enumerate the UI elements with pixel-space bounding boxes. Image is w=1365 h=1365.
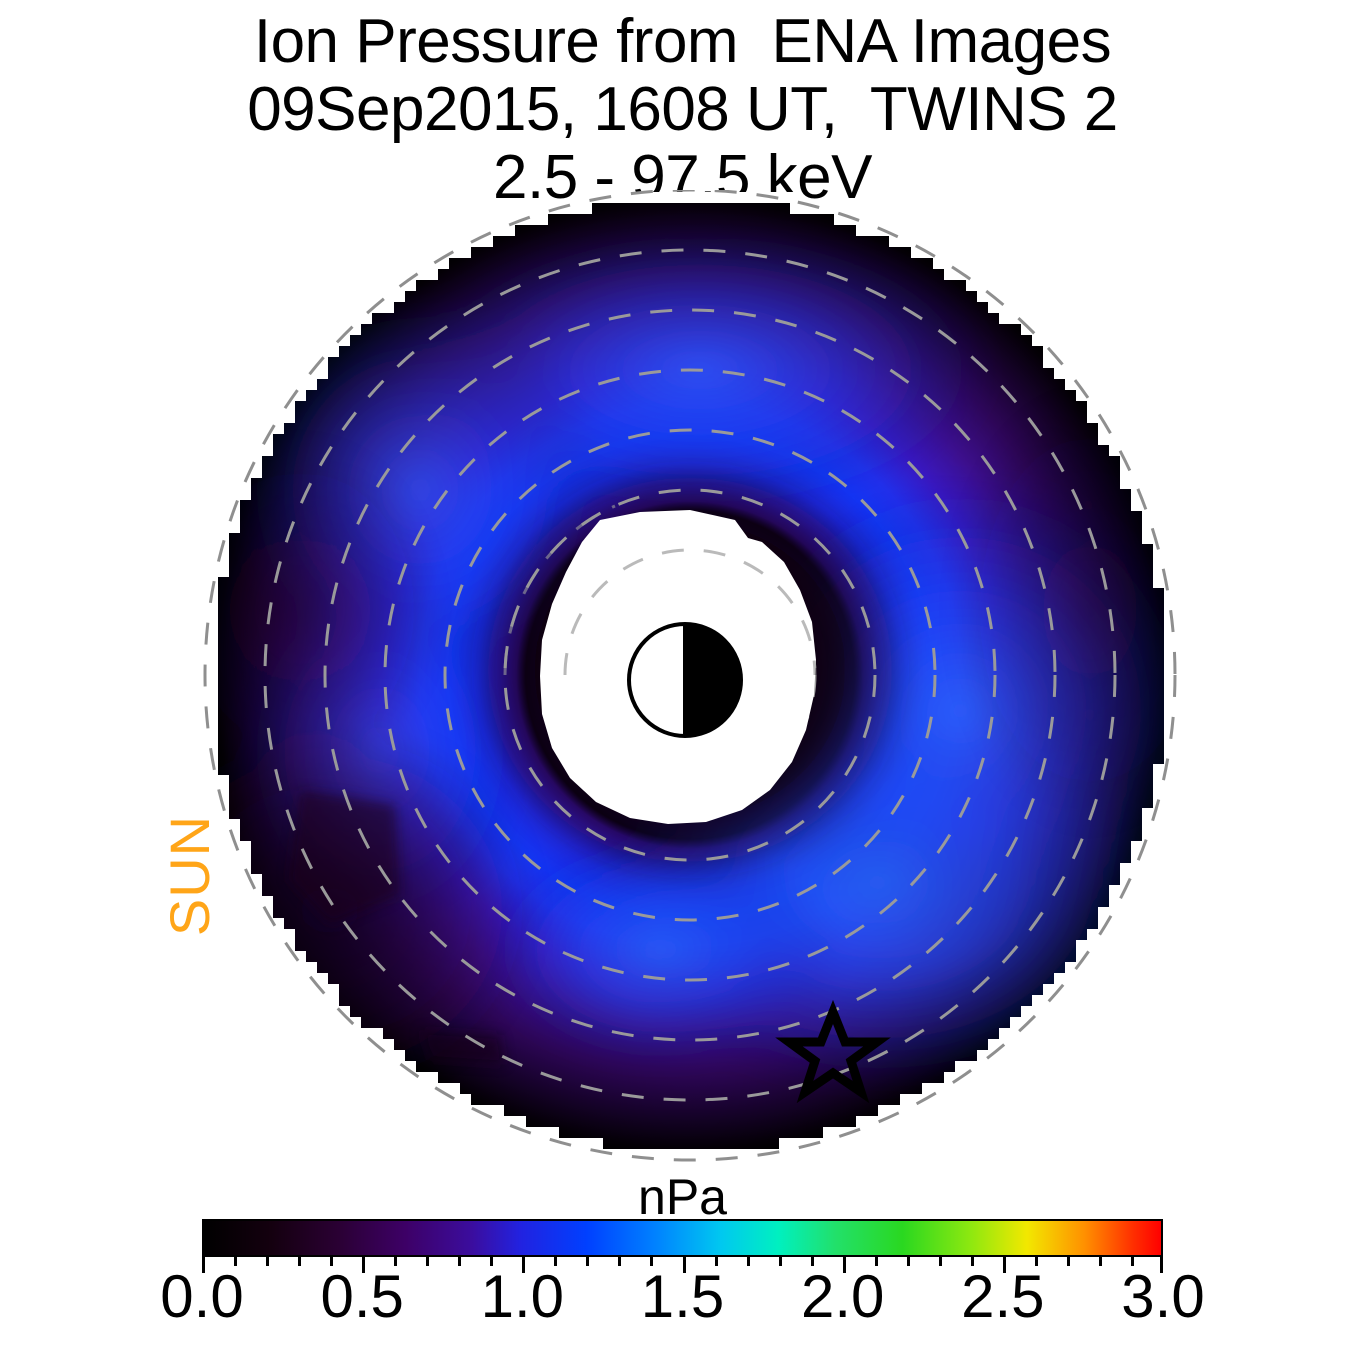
earth-marker <box>629 624 741 736</box>
polar-heatmap-plot: SUN <box>0 190 1365 1170</box>
colorbar-tick-label: 0.5 <box>320 1262 403 1331</box>
colorbar-tick-labels: 0.00.51.01.52.02.53.0 <box>202 1262 1163 1332</box>
colorbar-unit-label: nPa <box>0 1168 1365 1226</box>
plot-canvas <box>0 190 1365 1170</box>
title-line-1: Ion Pressure from ENA Images <box>0 8 1365 76</box>
colorbar-tick-label: 3.0 <box>1121 1262 1204 1331</box>
colorbar-tick-label: 0.0 <box>160 1262 243 1331</box>
colorbar-tick-label: 2.5 <box>961 1262 1044 1331</box>
colorbar-tick-label: 1.0 <box>481 1262 564 1331</box>
title-line-2: 09Sep2015, 1608 UT, TWINS 2 <box>0 76 1365 144</box>
ena-ion-pressure-figure: Ion Pressure from ENA Images 09Sep2015, … <box>0 0 1365 1365</box>
colorbar-tick-label: 2.0 <box>801 1262 884 1331</box>
colorbar-gradient <box>202 1219 1163 1257</box>
figure-title: Ion Pressure from ENA Images 09Sep2015, … <box>0 8 1365 212</box>
colorbar-tick-label: 1.5 <box>641 1262 724 1331</box>
colorbar <box>202 1219 1163 1259</box>
